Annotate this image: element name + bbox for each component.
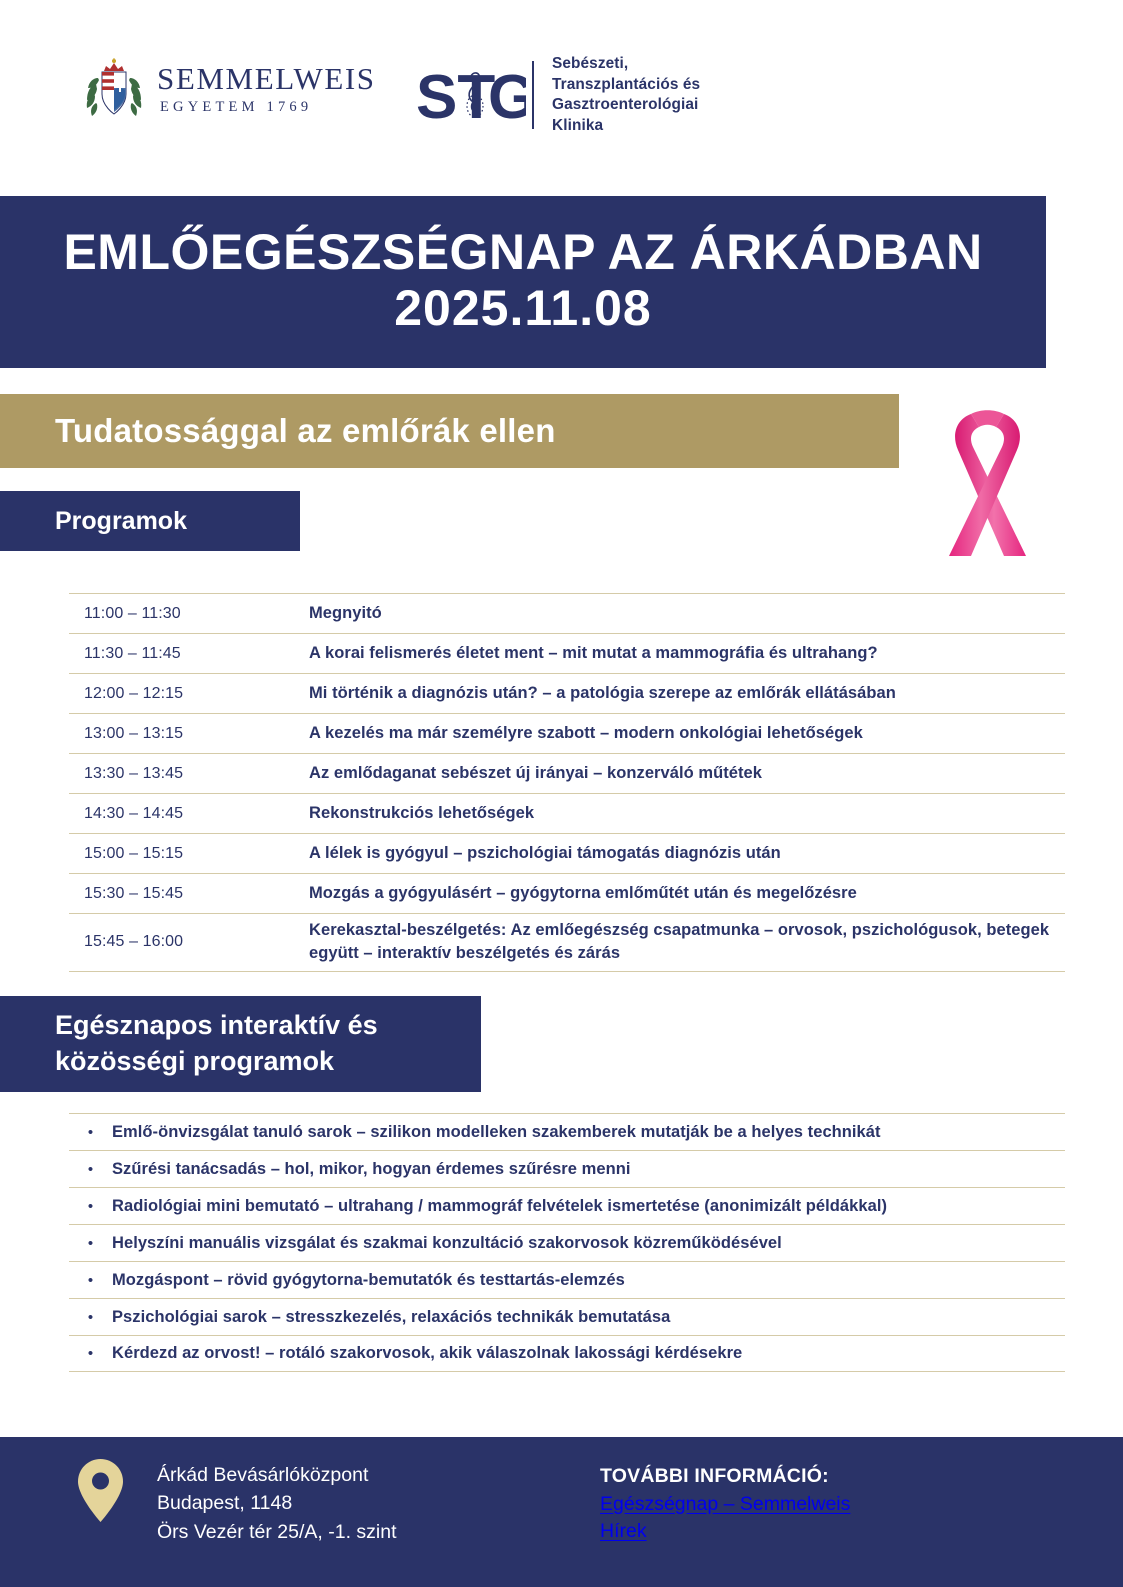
activities-list: •Emlő-önvizsgálat tanuló sarok – sziliko…	[69, 1113, 1065, 1372]
event-date: 2025.11.08	[394, 280, 652, 336]
subtitle-text: Tudatossággal az emlőrák ellen	[55, 412, 556, 450]
semmelweis-logo: SEMMELWEIS EGYETEM 1769	[84, 58, 376, 120]
schedule-row: 15:30 – 15:45Mozgás a gyógyulásért – gyó…	[69, 873, 1065, 913]
activity-text: Emlő-önvizsgálat tanuló sarok – szilikon…	[112, 1123, 881, 1142]
address-line-3: Örs Vezér tér 25/A, -1. szint	[157, 1518, 397, 1546]
activity-item: •Szűrési tanácsadás – hol, mikor, hogyan…	[69, 1150, 1065, 1187]
schedule-time: 15:45 – 16:00	[69, 933, 309, 951]
schedule-row: 15:45 – 16:00Kerekasztal-beszélgetés: Az…	[69, 913, 1065, 972]
poster-root: SEMMELWEIS EGYETEM 1769 ST G e Sebészeti…	[0, 0, 1123, 1587]
schedule-time: 11:30 – 11:45	[69, 645, 309, 663]
schedule-time: 15:00 – 15:15	[69, 845, 309, 863]
schedule-row: 13:30 – 13:45Az emlődaganat sebészet új …	[69, 753, 1065, 793]
semmelweis-subtitle: EGYETEM 1769	[157, 99, 376, 116]
allday-section-badge: Egésznapos interaktív és közösségi progr…	[0, 996, 481, 1092]
more-info-title: TOVÁBBI INFORMÁCIÓ:	[600, 1463, 872, 1491]
bullet-dot-icon: •	[69, 1236, 112, 1251]
schedule-description: A korai felismerés életet ment – mit mut…	[309, 642, 878, 665]
activity-text: Helyszíni manuális vizsgálat és szakmai …	[112, 1234, 782, 1253]
activity-text: Kérdezd az orvost! – rotáló szakorvosok,…	[112, 1344, 742, 1363]
semmelweis-wordmark: SEMMELWEIS EGYETEM 1769	[157, 63, 376, 116]
schedule-row: 15:00 – 15:15A lélek is gyógyul – pszich…	[69, 833, 1065, 873]
schedule-time: 13:00 – 13:15	[69, 725, 309, 743]
schedule-description: Rekonstrukciós lehetőségek	[309, 802, 534, 825]
allday-badge-line2: közösségi programok	[55, 1044, 481, 1080]
schedule-row: 11:30 – 11:45A korai felismerés életet m…	[69, 633, 1065, 673]
stg-text-line4: Klinika	[552, 117, 603, 134]
bullet-dot-icon: •	[69, 1125, 112, 1140]
programs-section-badge: Programok	[0, 491, 300, 551]
stg-text-line2: Transzplantációs és	[552, 76, 700, 93]
schedule-time: 11:00 – 11:30	[69, 605, 309, 623]
activity-text: Radiológiai mini bemutató – ultrahang / …	[112, 1197, 887, 1216]
activity-text: Mozgáspont – rövid gyógytorna-bemutatók …	[112, 1271, 625, 1290]
map-pin-icon	[78, 1459, 123, 1522]
schedule-description: Megnyitó	[309, 602, 382, 625]
activity-item: •Helyszíni manuális vizsgálat és szakmai…	[69, 1224, 1065, 1261]
stg-monogram-icon: ST G e	[416, 58, 526, 132]
svg-text:ST: ST	[416, 63, 495, 132]
programs-badge-label: Programok	[55, 507, 187, 536]
schedule-row: 12:00 – 12:15Mi történik a diagnózis utá…	[69, 673, 1065, 713]
schedule-description: A lélek is gyógyul – pszichológiai támog…	[309, 842, 781, 865]
stg-clinic-name: Sebészeti, Transzplantációs és Gasztroen…	[552, 54, 700, 137]
bullet-dot-icon: •	[69, 1273, 112, 1288]
more-info-link[interactable]: Egészségnap – Semmelweis Hírek	[600, 1491, 872, 1546]
page-title: EMLŐEGÉSZSÉGNAP AZ ÁRKÁDBAN	[63, 224, 982, 280]
svg-text:e: e	[470, 95, 481, 117]
stg-divider	[532, 61, 534, 129]
more-info-block: TOVÁBBI INFORMÁCIÓ: Egészségnap – Semmel…	[600, 1463, 872, 1546]
bullet-dot-icon: •	[69, 1199, 112, 1214]
schedule-time: 13:30 – 13:45	[69, 765, 309, 783]
schedule-table: 11:00 – 11:30Megnyitó11:30 – 11:45A kora…	[69, 593, 1065, 972]
stg-text-line3: Gasztroenterológiai	[552, 96, 698, 113]
schedule-description: Mi történik a diagnózis után? – a patoló…	[309, 682, 896, 705]
logo-strip: SEMMELWEIS EGYETEM 1769 ST G e Sebészeti…	[0, 0, 1123, 196]
schedule-time: 14:30 – 14:45	[69, 805, 309, 823]
schedule-row: 11:00 – 11:30Megnyitó	[69, 593, 1065, 633]
schedule-time: 12:00 – 12:15	[69, 685, 309, 703]
schedule-time: 15:30 – 15:45	[69, 885, 309, 903]
schedule-row: 13:00 – 13:15A kezelés ma már személyre …	[69, 713, 1065, 753]
activity-text: Pszichológiai sarok – stresszkezelés, re…	[112, 1308, 670, 1327]
venue-address: Árkád Bevásárlóközpont Budapest, 1148 Ör…	[157, 1461, 397, 1546]
activity-item: •Kérdezd az orvost! – rotáló szakorvosok…	[69, 1335, 1065, 1372]
subtitle-bar: Tudatossággal az emlőrák ellen	[0, 394, 899, 468]
activity-item: •Emlő-önvizsgálat tanuló sarok – sziliko…	[69, 1113, 1065, 1150]
bullet-dot-icon: •	[69, 1162, 112, 1177]
stg-text-line1: Sebészeti,	[552, 55, 628, 72]
schedule-description: Mozgás a gyógyulásért – gyógytorna emlőm…	[309, 882, 857, 905]
schedule-description: Kerekasztal-beszélgetés: Az emlőegészség…	[309, 919, 1065, 966]
pink-awareness-ribbon-icon	[925, 396, 1050, 560]
bullet-dot-icon: •	[69, 1346, 112, 1361]
allday-badge-line1: Egésznapos interaktív és	[55, 1008, 481, 1044]
activity-item: •Pszichológiai sarok – stresszkezelés, r…	[69, 1298, 1065, 1335]
activity-item: •Radiológiai mini bemutató – ultrahang /…	[69, 1187, 1065, 1224]
title-banner: EMLŐEGÉSZSÉGNAP AZ ÁRKÁDBAN 2025.11.08	[0, 196, 1046, 368]
activity-item: •Mozgáspont – rövid gyógytorna-bemutatók…	[69, 1261, 1065, 1298]
schedule-description: Az emlődaganat sebészet új irányai – kon…	[309, 762, 762, 785]
activity-text: Szűrési tanácsadás – hol, mikor, hogyan …	[112, 1160, 630, 1179]
bullet-dot-icon: •	[69, 1310, 112, 1325]
svg-text:G: G	[488, 63, 526, 132]
address-line-2: Budapest, 1148	[157, 1489, 397, 1517]
address-line-1: Árkád Bevásárlóközpont	[157, 1461, 397, 1489]
schedule-row: 14:30 – 14:45Rekonstrukciós lehetőségek	[69, 793, 1065, 833]
hungarian-coat-of-arms-crest-icon	[84, 58, 144, 120]
stg-logo: ST G e Sebészeti, Transzplantációs és Ga…	[416, 54, 700, 137]
semmelweis-name: SEMMELWEIS	[157, 63, 376, 94]
schedule-description: A kezelés ma már személyre szabott – mod…	[309, 722, 863, 745]
